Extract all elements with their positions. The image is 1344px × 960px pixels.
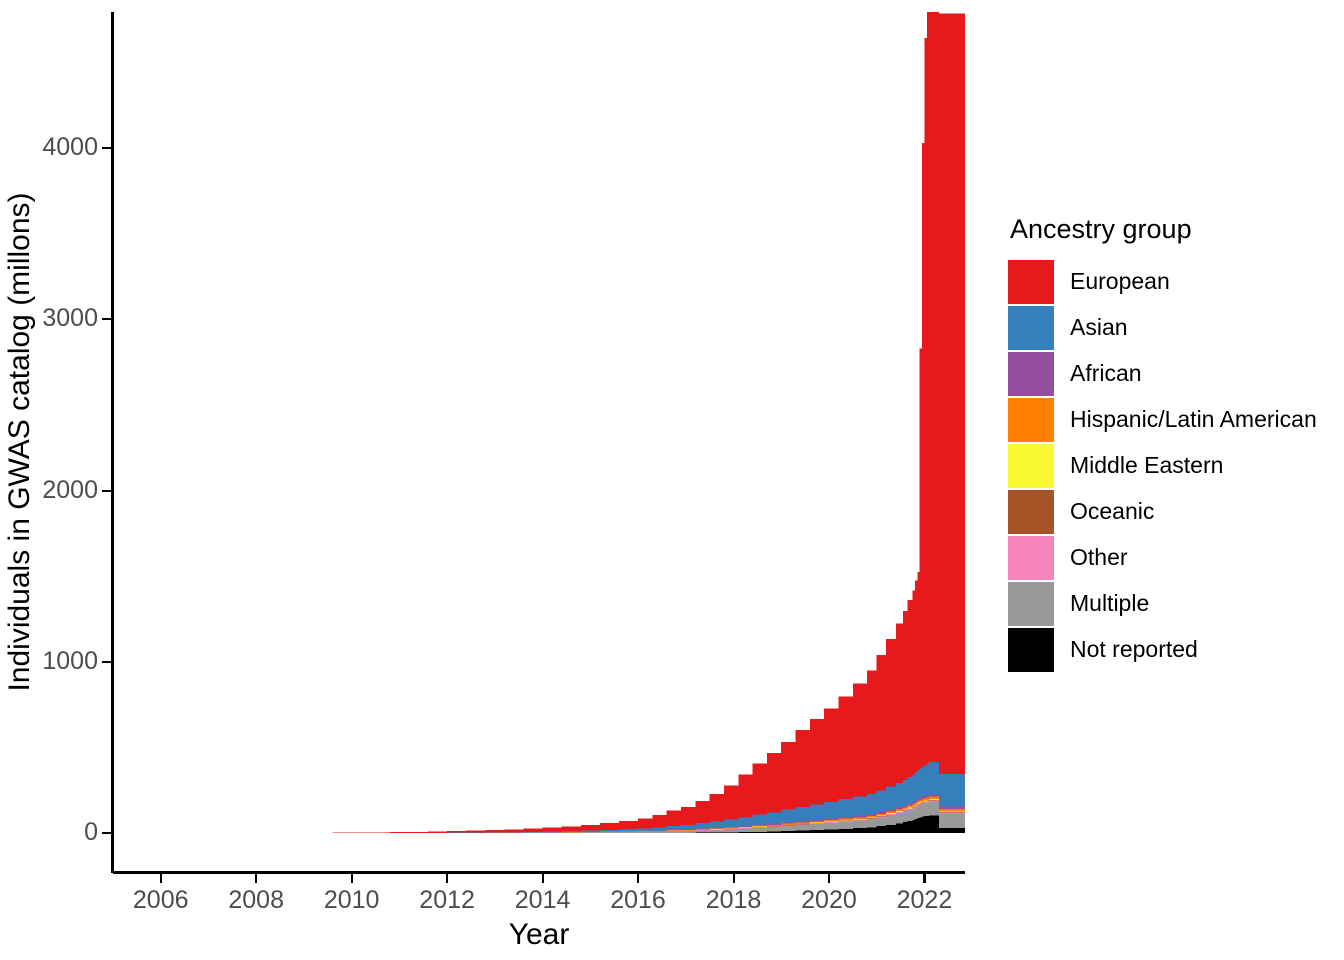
legend-item[interactable]: Multiple	[1008, 581, 1338, 627]
y-tick-label: 3000	[42, 306, 98, 331]
y-tick-label: 1000	[42, 649, 98, 674]
y-axis-title: Individuals in GWAS catalog (millons)	[0, 12, 40, 872]
legend-swatch-icon	[1008, 306, 1054, 350]
legend-item-label: Other	[1070, 546, 1128, 569]
legend-item-label: Asian	[1070, 316, 1128, 339]
x-tick-label: 2012	[419, 888, 475, 913]
legend-item[interactable]: Oceanic	[1008, 489, 1338, 535]
x-tick-label: 2014	[515, 888, 571, 913]
y-tick-mark	[102, 832, 111, 834]
x-tick-mark	[923, 874, 925, 883]
legend-item-label: European	[1070, 270, 1170, 293]
y-tick-mark	[102, 490, 111, 492]
legend-item[interactable]: European	[1008, 259, 1338, 305]
stacked-area-plot	[113, 12, 965, 872]
x-tick-mark	[255, 874, 257, 883]
legend-swatch-icon	[1008, 582, 1054, 626]
area-series-european	[333, 12, 965, 833]
y-tick-label: 0	[84, 820, 98, 845]
x-tick-mark	[542, 874, 544, 883]
x-axis-title: Year	[113, 918, 965, 951]
legend-item[interactable]: Other	[1008, 535, 1338, 581]
x-tick-mark	[733, 874, 735, 883]
legend-item[interactable]: African	[1008, 351, 1338, 397]
x-tick-mark	[160, 874, 162, 883]
legend-swatch-icon	[1008, 490, 1054, 534]
legend-items: EuropeanAsianAfricanHispanic/Latin Ameri…	[1008, 259, 1338, 673]
legend-item-label: African	[1070, 362, 1142, 385]
y-tick-mark	[102, 318, 111, 320]
x-tick-label: 2022	[897, 888, 953, 913]
legend-item-label: Hispanic/Latin American	[1070, 408, 1317, 431]
x-tick-label: 2020	[801, 888, 857, 913]
legend-item[interactable]: Hispanic/Latin American	[1008, 397, 1338, 443]
legend-item-label: Not reported	[1070, 638, 1198, 661]
legend-swatch-icon	[1008, 536, 1054, 580]
y-axis-line	[111, 12, 114, 873]
legend-title: Ancestry group	[1010, 215, 1338, 245]
x-tick-mark	[828, 874, 830, 883]
legend: Ancestry group EuropeanAsianAfricanHispa…	[1008, 215, 1338, 673]
legend-item-label: Oceanic	[1070, 500, 1154, 523]
x-tick-label: 2008	[228, 888, 284, 913]
legend-item[interactable]: Middle Eastern	[1008, 443, 1338, 489]
legend-item-label: Multiple	[1070, 592, 1149, 615]
x-tick-label: 2018	[706, 888, 762, 913]
x-axis-line	[113, 871, 965, 874]
legend-item[interactable]: Asian	[1008, 305, 1338, 351]
legend-swatch-icon	[1008, 444, 1054, 488]
x-tick-mark	[446, 874, 448, 883]
legend-swatch-icon	[1008, 260, 1054, 304]
chart-figure: 01000200030004000 2006200820102012201420…	[0, 0, 1344, 960]
legend-swatch-icon	[1008, 352, 1054, 396]
y-tick-mark	[102, 147, 111, 149]
x-tick-label: 2010	[324, 888, 380, 913]
legend-item[interactable]: Not reported	[1008, 627, 1338, 673]
plot-panel	[113, 12, 965, 872]
x-tick-label: 2006	[133, 888, 189, 913]
y-tick-mark	[102, 661, 111, 663]
legend-item-label: Middle Eastern	[1070, 454, 1223, 477]
y-tick-label: 4000	[42, 135, 98, 160]
x-tick-mark	[637, 874, 639, 883]
y-tick-label: 2000	[42, 478, 98, 503]
x-tick-mark	[351, 874, 353, 883]
x-tick-label: 2016	[610, 888, 666, 913]
legend-swatch-icon	[1008, 628, 1054, 672]
legend-swatch-icon	[1008, 398, 1054, 442]
